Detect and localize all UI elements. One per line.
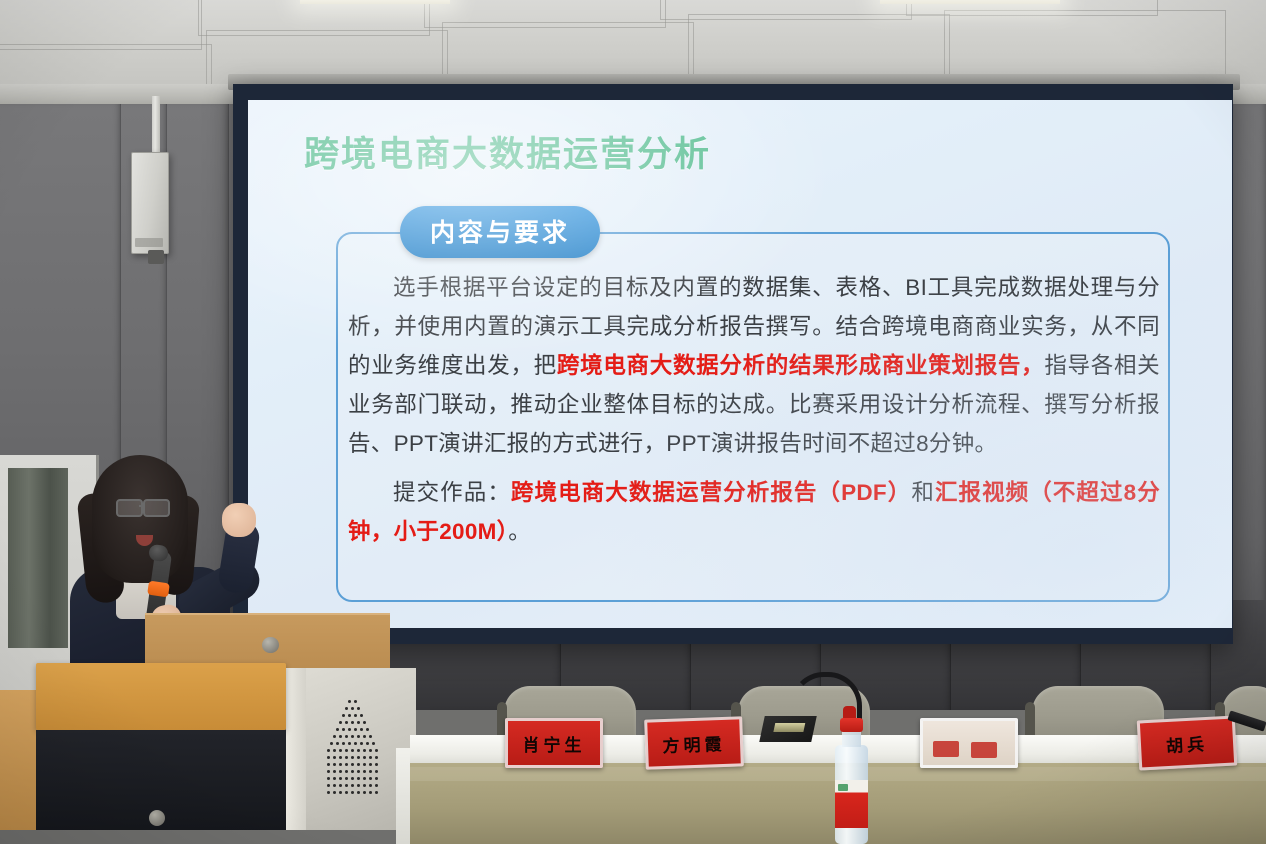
- presenter-fist: [222, 503, 256, 537]
- slide-body-text: 选手根据平台设定的目标及内置的数据集、表格、BI工具完成数据处理与分析，并使用内…: [348, 268, 1160, 561]
- emphasis-text: 跨境电商大数据分析的结果形成商业策划报告，: [557, 353, 1044, 378]
- paragraph-2: 提交作品：跨境电商大数据运营分析报告（PDF）和汇报视频（不超过8分钟，小于20…: [348, 473, 1160, 551]
- nameplate-text: 方明霞: [662, 729, 726, 756]
- conference-room-photo: 跨境电商大数据运营分析 内容与要求 选手根据平台设定的目标及内置的数据集、表格、…: [0, 0, 1266, 844]
- bottle-cap: [840, 718, 863, 732]
- podium-front-knob: [149, 810, 165, 826]
- microphone-ring: [147, 581, 170, 598]
- glasses-bridge-icon: [139, 505, 144, 507]
- conduit: [152, 96, 160, 158]
- nameplate: 方明霞: [644, 716, 744, 769]
- podium-top: [36, 663, 286, 730]
- wall-speaker-icon: [131, 152, 169, 254]
- nameplate-text: 肖宁生: [523, 731, 586, 756]
- body-run: 提交作品：: [393, 480, 511, 505]
- podium-knob: [262, 637, 279, 653]
- presentation-slide: 跨境电商大数据运营分析 内容与要求 选手根据平台设定的目标及内置的数据集、表格、…: [248, 100, 1232, 628]
- podium-speaker-grille: [328, 700, 384, 800]
- body-run: 。: [508, 519, 531, 544]
- glasses-left-lens-icon: [116, 499, 143, 517]
- speaker-mount: [148, 250, 164, 264]
- bottle-label: [835, 780, 868, 828]
- body-run: 和: [911, 480, 935, 505]
- nameplate-blank: [920, 718, 1018, 768]
- presenter-hair: [92, 455, 188, 583]
- slide-title: 跨境电商大数据运营分析: [304, 126, 711, 177]
- ceiling-light: [880, 0, 1060, 4]
- bottle-neck: [842, 731, 861, 747]
- emphasis-text: 跨境电商大数据运营分析报告（PDF）: [511, 480, 911, 505]
- microphone-base: [759, 716, 817, 742]
- curtain: [8, 468, 68, 648]
- nameplate: 胡兵: [1137, 715, 1237, 770]
- glasses-right-lens-icon: [143, 499, 170, 517]
- section-pill: 内容与要求: [400, 206, 600, 258]
- nameplate-text: 胡兵: [1165, 729, 1208, 756]
- ceiling-light: [300, 0, 450, 4]
- water-bottle: [833, 718, 870, 844]
- nameplate: 肖宁生: [505, 718, 603, 768]
- paragraph-1: 选手根据平台设定的目标及内置的数据集、表格、BI工具完成数据处理与分析，并使用内…: [348, 268, 1160, 463]
